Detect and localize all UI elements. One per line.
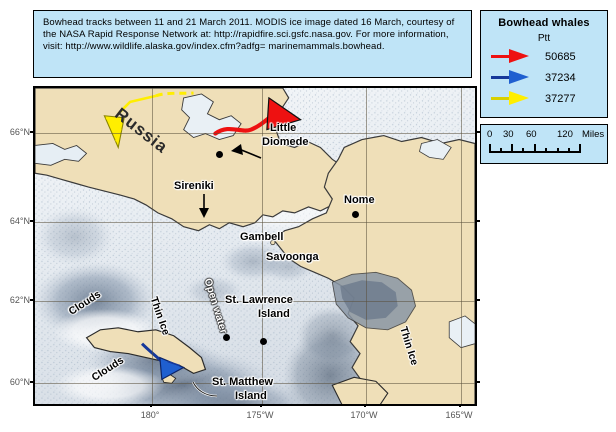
lat-label-64N: 64°N xyxy=(0,216,30,226)
scale-label-0: 0 xyxy=(487,129,492,140)
place-marker-savoonga xyxy=(260,338,267,345)
graticule-66N xyxy=(35,133,475,134)
caption-text: Bowhead tracks between 11 and 21 March 2… xyxy=(43,17,463,54)
lon-label-170W: 170°W xyxy=(342,410,386,420)
place-label-st-matthew-line2: Island xyxy=(235,390,267,402)
place-label-little-diomede-line1: Little xyxy=(270,122,296,134)
place-label-nome: Nome xyxy=(344,194,375,206)
place-label-savoonga: Savoonga xyxy=(266,251,319,263)
scale-label-120: 120 xyxy=(557,129,573,140)
place-label-st-lawrence-line1: St. Lawrence xyxy=(225,294,293,306)
graticule-64N xyxy=(35,222,475,223)
map-canvas[interactable]: Russia Sireniki Little Diomede Nome Gamb… xyxy=(33,86,477,406)
legend-label-37234: 37234 xyxy=(545,72,576,84)
scale-unit: Miles xyxy=(582,129,604,140)
scale-bar: 0 30 60 120 Miles xyxy=(480,124,608,164)
lon-label-165W: 165°W xyxy=(437,410,481,420)
legend-item-37277: 37277 xyxy=(481,90,607,107)
legend-box: Bowhead whales Ptt 50685 37234 37277 xyxy=(480,10,608,118)
legend-subtitle: Ptt xyxy=(481,33,607,44)
scale-label-60: 60 xyxy=(526,129,537,140)
arrow-right-icon xyxy=(491,49,539,64)
lon-label-175W: 175°W xyxy=(238,410,282,420)
leader-line-icon xyxy=(191,380,219,400)
legend-item-50685: 50685 xyxy=(481,48,607,65)
place-marker-gambell xyxy=(223,334,230,341)
graticule-170W xyxy=(366,88,367,404)
graticule-165W xyxy=(461,88,462,404)
legend-title: Bowhead whales xyxy=(481,17,607,29)
place-marker-little-diomede xyxy=(216,151,223,158)
lat-label-66N: 66°N xyxy=(0,127,30,137)
place-label-little-diomede-line2: Diomede xyxy=(262,136,308,148)
scale-bar-labels: 0 30 60 120 Miles xyxy=(481,129,607,144)
lat-label-60N: 60°N xyxy=(0,377,30,387)
place-marker-nome xyxy=(352,211,359,218)
place-label-st-matthew-line1: St. Matthew xyxy=(212,376,273,388)
legend-item-37234: 37234 xyxy=(481,69,607,86)
place-label-st-lawrence-line2: Island xyxy=(258,308,290,320)
lat-label-62N: 62°N xyxy=(0,295,30,305)
arrow-down-icon xyxy=(198,194,210,218)
lon-label-180: 180° xyxy=(128,410,172,420)
scale-label-30: 30 xyxy=(503,129,514,140)
legend-label-50685: 50685 xyxy=(545,51,576,63)
scale-bar-ticks xyxy=(489,144,581,156)
legend-label-37277: 37277 xyxy=(545,93,576,105)
place-label-gambell: Gambell xyxy=(240,231,283,243)
arrow-right-icon xyxy=(491,70,539,85)
caption-box: Bowhead tracks between 11 and 21 March 2… xyxy=(33,10,472,78)
arrow-left-icon xyxy=(227,144,263,160)
place-label-sireniki: Sireniki xyxy=(174,180,214,192)
arrow-right-icon xyxy=(491,91,539,106)
